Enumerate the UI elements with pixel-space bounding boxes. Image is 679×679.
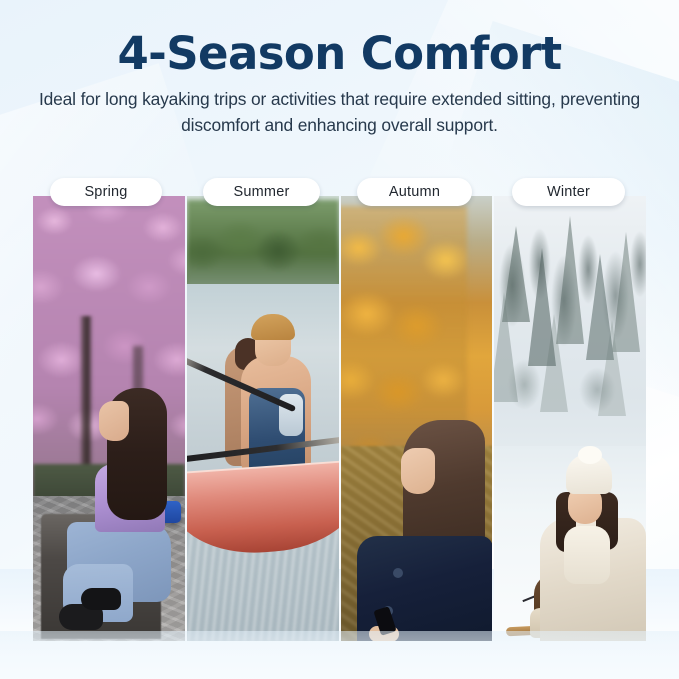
spring-model-shoe-right	[81, 588, 121, 610]
summer-treeline	[187, 200, 339, 288]
season-label-summer: Summer	[203, 178, 320, 206]
banner-headline: 4-Season Comfort	[0, 28, 679, 80]
snow-laden-forest	[494, 196, 646, 458]
autumn-model-face	[401, 448, 435, 494]
summer-photo	[187, 196, 339, 641]
spring-photo	[33, 196, 185, 641]
product-feature-banner: 4-Season Comfort Ideal for long kayaking…	[0, 0, 679, 679]
coat-button-upper	[393, 568, 403, 578]
season-panel-summer	[187, 196, 339, 641]
spring-model-face	[99, 401, 129, 441]
season-panel-strip	[33, 196, 646, 641]
winter-photo	[494, 196, 646, 641]
season-panel-autumn	[341, 196, 493, 641]
season-label-winter: Winter	[512, 178, 625, 206]
autumn-photo	[341, 196, 493, 641]
season-label-autumn: Autumn	[357, 178, 472, 206]
winter-model-scarf	[564, 526, 610, 584]
season-panel-spring	[33, 196, 185, 641]
season-panel-winter	[494, 196, 646, 641]
banner-subhead: Ideal for long kayaking trips or activit…	[36, 86, 643, 138]
season-label-spring: Spring	[50, 178, 162, 206]
